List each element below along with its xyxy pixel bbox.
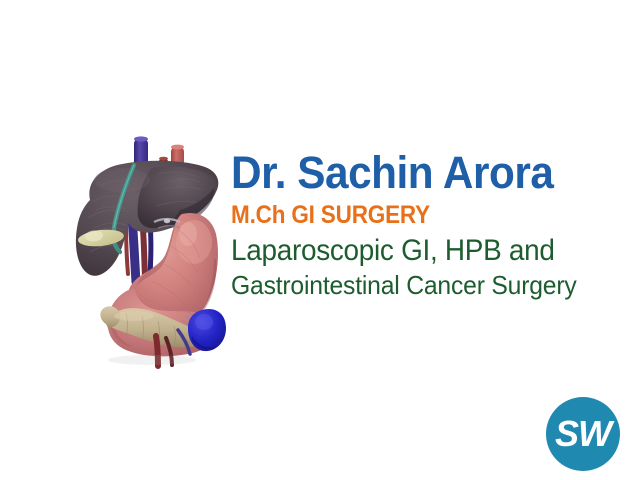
sw-watermark-initials: SW bbox=[555, 416, 611, 452]
doctor-qualification: M.Ch GI SURGERY bbox=[231, 200, 573, 230]
specialty-line-2: Gastrointestinal Cancer Surgery bbox=[231, 270, 592, 300]
identity-text-block: Dr. Sachin Arora M.Ch GI SURGERY Laparos… bbox=[231, 148, 611, 300]
upper-gi-anatomy-illustration bbox=[30, 110, 230, 370]
sw-watermark-badge[interactable]: SW bbox=[546, 397, 620, 471]
specialty-line-1: Laparoscopic GI, HPB and bbox=[231, 234, 584, 268]
doctor-name: Dr. Sachin Arora bbox=[231, 148, 588, 198]
spleen bbox=[188, 309, 226, 351]
banner-canvas: Dr. Sachin Arora M.Ch GI SURGERY Laparos… bbox=[0, 0, 640, 480]
